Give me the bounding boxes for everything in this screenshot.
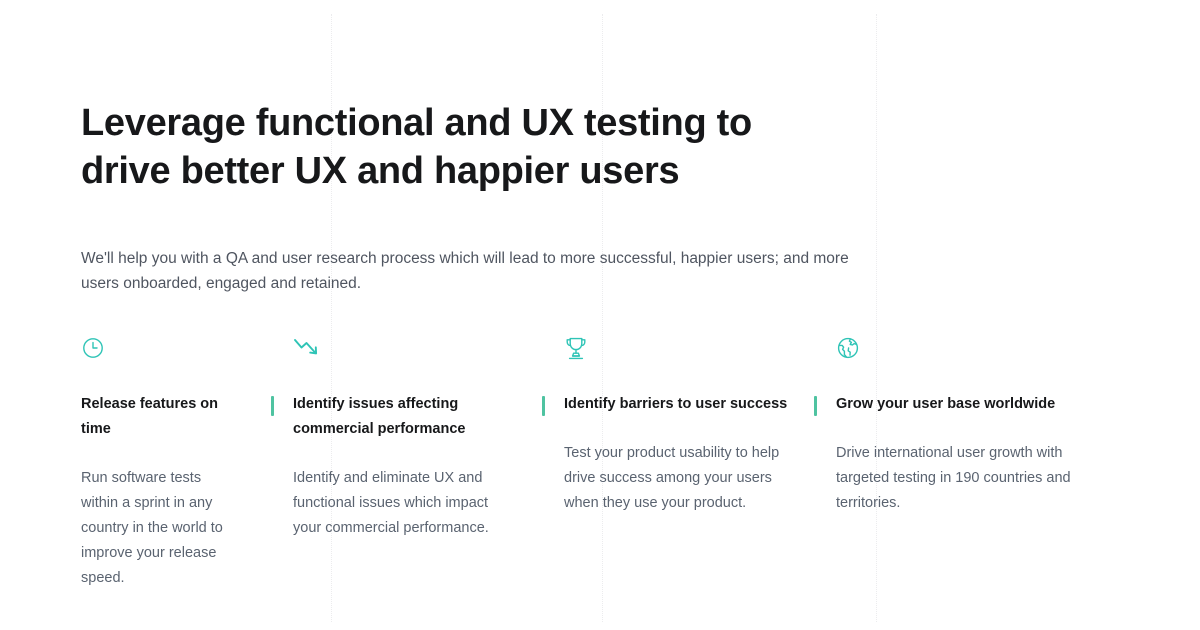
accent-bar (542, 396, 545, 416)
hero-section: Leverage functional and UX testing to dr… (81, 99, 911, 195)
feature-heading-text: Identify barriers to user success (564, 396, 787, 412)
feature-body: Drive international user growth with tar… (836, 441, 1076, 516)
feature-heading-text: Identify issues affecting commercial per… (293, 396, 465, 437)
feature-body: Test your product usability to help driv… (564, 441, 788, 516)
trophy-icon (564, 336, 788, 366)
clock-icon (81, 336, 241, 366)
trend-down-arrow-icon (293, 336, 514, 366)
feature-heading: Identify issues affecting commercial per… (293, 392, 514, 442)
feature-heading: Identify barriers to user success (564, 392, 788, 417)
feature-body: Identify and eliminate UX and functional… (293, 466, 514, 541)
accent-bar (271, 396, 274, 416)
feature-body: Run software tests within a sprint in an… (81, 466, 241, 591)
feature-heading-text: Release features on time (81, 396, 218, 437)
globe-icon (836, 336, 1076, 366)
feature-column-release-features: Release features on time Run software te… (0, 336, 271, 591)
accent-bar (814, 396, 817, 416)
page-subtitle: We'll help you with a QA and user resear… (81, 246, 856, 296)
feature-column-user-success: Identify barriers to user success Test y… (542, 336, 816, 591)
feature-column-grow-worldwide: Grow your user base worldwide Drive inte… (816, 336, 1106, 591)
feature-column-commercial-performance: Identify issues affecting commercial per… (271, 336, 542, 591)
feature-heading-text: Grow your user base worldwide (836, 396, 1055, 412)
page-title: Leverage functional and UX testing to dr… (81, 99, 841, 195)
feature-heading: Grow your user base worldwide (836, 392, 1076, 417)
feature-columns: Release features on time Run software te… (0, 336, 1200, 591)
feature-heading: Release features on time (81, 392, 241, 442)
